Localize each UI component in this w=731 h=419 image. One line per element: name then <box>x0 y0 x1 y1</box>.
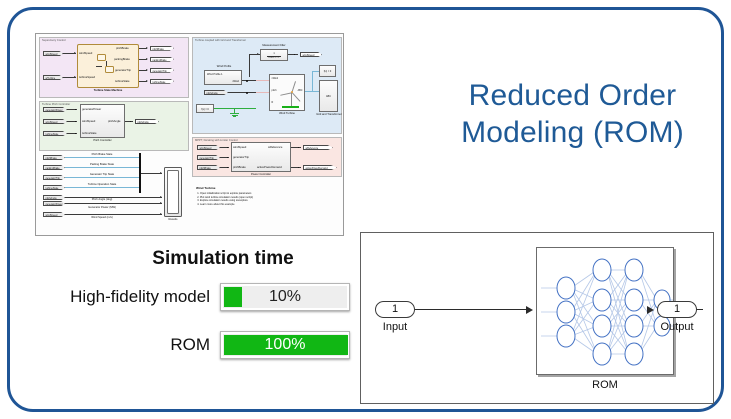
powc-input-pitchbrake: pitchBrake <box>233 166 246 169</box>
inport-supervisory-windspeed[interactable]: windSpeed <box>43 51 63 56</box>
inport-res-pitchbrake[interactable]: pitchBrake <box>43 155 65 160</box>
inport-supervisory-wturbine[interactable]: wTurbine <box>43 75 63 80</box>
turbine-input-pitch: pitch <box>272 89 277 92</box>
model-annotation: Wind Turbine Open initialization script … <box>196 186 336 207</box>
inport-res-turbinestate[interactable]: turbineState <box>43 185 65 190</box>
outport-parkingbrake[interactable]: parkingBrake <box>150 57 174 62</box>
inport-mppt-windspeed[interactable]: windSpeed <box>197 145 220 150</box>
sm-input-turbinespeed: turbineSpeed <box>79 76 95 79</box>
wire <box>65 214 162 215</box>
signal-dot <box>246 80 248 82</box>
wire-physical-green <box>214 108 256 109</box>
sm-output-turbinestate: turbineState <box>115 80 130 83</box>
state-node-a <box>97 54 106 61</box>
progress-label-high-fidelity: 10% <box>221 284 349 310</box>
arrow <box>257 53 259 55</box>
simulation-time-row-rom: ROM 100% <box>28 331 350 359</box>
wire <box>228 92 256 93</box>
caption-measurement-filter: Measurement Filter <box>246 44 302 47</box>
outport-wreference[interactable]: wReference <box>303 145 333 150</box>
inport-pitch-generatorpower[interactable]: generatorPower <box>43 107 67 112</box>
powc-output-wreference: wReference <box>268 146 282 149</box>
powc-output-activepowerdemand: activePowerDemand <box>257 166 282 169</box>
wire <box>65 177 139 178</box>
wire <box>141 173 162 174</box>
arrow <box>146 80 148 82</box>
rom-block-caption: ROM <box>536 379 674 391</box>
scope-display <box>167 170 179 214</box>
wire-input-to-rom <box>415 309 527 310</box>
input-port-block[interactable]: 1 <box>375 301 415 318</box>
block-results-scope[interactable] <box>164 167 182 217</box>
caption-pitch-controller: Pitch Controller <box>80 139 125 142</box>
signal-label-wind-speed: Wind Speed (m/s) <box>66 216 138 219</box>
wire <box>125 121 133 122</box>
wire <box>291 167 301 168</box>
arrow <box>146 47 148 49</box>
pc-output-pitchangle: pitchAngle <box>108 120 121 123</box>
inport-res-pitchangle[interactable]: pitchAngle <box>43 195 65 200</box>
arrow <box>160 172 162 174</box>
inport-res-parkingbrake[interactable]: parkingBrake <box>43 165 65 170</box>
wire <box>288 54 298 55</box>
arrow-into-rom <box>526 306 533 314</box>
transformer-port-abc: ABC <box>320 95 337 98</box>
turbine-output-abc: ABC <box>298 89 303 92</box>
sm-output-parkingbrake: parkingBrake <box>114 58 130 61</box>
arrow <box>146 69 148 71</box>
simulation-time-row-high-fidelity: High-fidelity model 10% <box>28 283 350 311</box>
solver-label: f(x) = 0 <box>197 108 213 111</box>
outport-pitchangle[interactable]: pitchAngle <box>135 119 159 124</box>
pc-input-generatorpower: generatorPower <box>82 108 101 111</box>
caption-results: Results <box>164 218 182 221</box>
arrow-into-output <box>647 306 654 314</box>
inport-pitch-turbinestate[interactable]: turbineState <box>43 131 67 136</box>
wire <box>305 91 319 92</box>
rom-diagram-panel: 1 Input <box>360 232 714 404</box>
wire <box>242 80 256 81</box>
inport-pitch-windspeed[interactable]: windSpeed <box>43 119 67 124</box>
wire <box>65 157 139 158</box>
output-port-caption: Output <box>652 321 702 333</box>
outport-filter-windspeed[interactable]: windSpeed <box>300 52 322 57</box>
inport-grid-pitchangle[interactable]: pitchAngle <box>204 90 228 95</box>
caption-power-controller: Power Controller <box>231 173 291 176</box>
sm-input-windspeed: windSpeed <box>79 52 92 55</box>
signal-label-turbine-operation-state: Turbine Operation State <box>66 183 138 186</box>
outport-pitchbrake[interactable]: pitchBrake <box>150 46 174 51</box>
wire <box>106 61 107 66</box>
inport-mppt-generatortrip[interactable]: generatorTrip <box>197 155 220 160</box>
signal-label-generator-trip-state: Generator Trip State <box>66 173 138 176</box>
turbine-blade <box>291 92 300 102</box>
inport-res-windspeed[interactable]: windSpeed <box>43 212 65 217</box>
wire-physical <box>256 92 270 93</box>
progress-bar-high-fidelity: 10% <box>220 283 350 311</box>
block-wind-profile[interactable]: Wind Profile 1 vWind <box>204 70 242 85</box>
wind-profile-label: Wind Profile 1 <box>207 73 223 76</box>
arrow <box>74 76 76 78</box>
arrow <box>160 196 162 198</box>
block-solver-configuration-left[interactable]: f(x) = 0 <box>196 104 214 113</box>
page-title: Reduced Order Modeling (ROM) <box>430 78 715 151</box>
sm-output-generatortrip: generatorTrip <box>115 69 131 72</box>
turbine-status-bar <box>282 106 299 108</box>
outport-activepowerdemand[interactable]: activePowerDemand <box>303 165 337 170</box>
outport-turbinestate[interactable]: turbineState <box>150 79 174 84</box>
wire-physical <box>256 80 270 81</box>
pc-input-windspeed: windSpeed <box>82 120 95 123</box>
solver-label-right: f(x) = 0 <box>320 70 335 73</box>
signal-label-parking-brake-state: Parking Brake State <box>66 163 138 166</box>
arrow <box>160 213 162 215</box>
area-title-grid: Turbine coupled with Grid and Transforme… <box>195 39 246 42</box>
turbine-hub <box>291 91 293 93</box>
block-measurement-filter[interactable]: 1 0.001 s + 1 <box>260 49 288 61</box>
caption-wind-profile: Wind Profile <box>204 65 244 68</box>
wire <box>65 167 139 168</box>
simulink-model-canvas: Supervisory Control windSpeed wTurbine w… <box>35 33 344 236</box>
wire <box>65 203 162 204</box>
caption-turbine-state-machine: Turbine State Machine <box>77 89 139 92</box>
arrow <box>146 58 148 60</box>
block-wind-turbine[interactable]: vWind pitch R ABC <box>269 74 305 111</box>
input-port-caption: Input <box>370 321 420 333</box>
wire <box>96 66 102 67</box>
signal-label-generator-power: Generator Power (MW) <box>66 206 138 209</box>
wire <box>312 71 319 72</box>
page-title-line2: Modeling (ROM) <box>430 115 715 152</box>
output-port-block[interactable]: 1 <box>657 301 697 318</box>
simulation-time-heading: Simulation time <box>108 248 338 270</box>
wire <box>312 71 313 91</box>
annotation-list: Open initialization script to explore pa… <box>196 192 336 208</box>
row-label-high-fidelity: High-fidelity model <box>28 287 220 307</box>
area-title-pitch: Turbine Pitch Controller <box>42 103 70 106</box>
wire <box>249 54 250 77</box>
filter-numerator: 1 <box>261 52 287 55</box>
wire <box>291 147 301 148</box>
page-title-line1: Reduced Order <box>430 78 715 115</box>
turbine-blade <box>280 92 292 96</box>
signal-label-pitch-brake-state: Pitch Brake State <box>66 153 138 156</box>
block-solver-configuration-right[interactable]: f(x) = 0 <box>319 65 336 77</box>
wire <box>65 187 139 188</box>
sm-output-pitchbrake: pitchBrake <box>116 47 129 50</box>
inport-mppt-pitchbrake[interactable]: pitchBrake <box>197 165 220 170</box>
powc-input-windspeed: windSpeed <box>233 146 246 149</box>
powc-input-generatortrip: generatorTrip <box>233 156 249 159</box>
area-title-supervisory: Supervisory Control <box>42 39 66 42</box>
slide-canvas: Reduced Order Modeling (ROM) Supervisory… <box>0 0 731 419</box>
caption-grid-transformer: Grid and Transformer <box>314 113 344 116</box>
filter-denominator: 0.001 s + 1 <box>261 57 287 59</box>
turbine-input-r: R <box>272 101 274 104</box>
neural-network-graphic <box>537 248 675 376</box>
turbine-input-vwind: vWind <box>272 77 279 80</box>
inport-res-generatortrip[interactable]: generatorTrip <box>43 175 65 180</box>
simulation-time-section: Simulation time High-fidelity model 10% … <box>28 248 348 388</box>
pc-input-turbinestate: turbineState <box>82 132 97 135</box>
signal-dot <box>246 92 248 94</box>
progress-bar-rom: 100% <box>220 331 350 359</box>
state-node-b <box>105 66 114 73</box>
wire <box>65 197 162 198</box>
caption-wind-turbine: Wind Turbine <box>269 112 305 115</box>
block-grid-transformer[interactable]: ABC <box>319 80 338 112</box>
outport-generatortrip[interactable]: generatorTrip <box>150 68 174 73</box>
ground-bar3 <box>233 116 236 117</box>
arrow <box>160 202 162 204</box>
arrow <box>74 52 76 54</box>
annotation-item[interactable]: Learn more about this example <box>200 203 336 207</box>
signal-label-pitch-angle: Pitch Angle (deg) <box>66 198 138 201</box>
row-label-rom: ROM <box>28 335 220 355</box>
wind-profile-output: vWind <box>232 80 239 83</box>
progress-label-rom: 100% <box>221 332 349 358</box>
annotation-heading: Wind Turbine <box>196 186 336 191</box>
inport-res-generatorpower[interactable]: generatorPower <box>43 201 65 206</box>
